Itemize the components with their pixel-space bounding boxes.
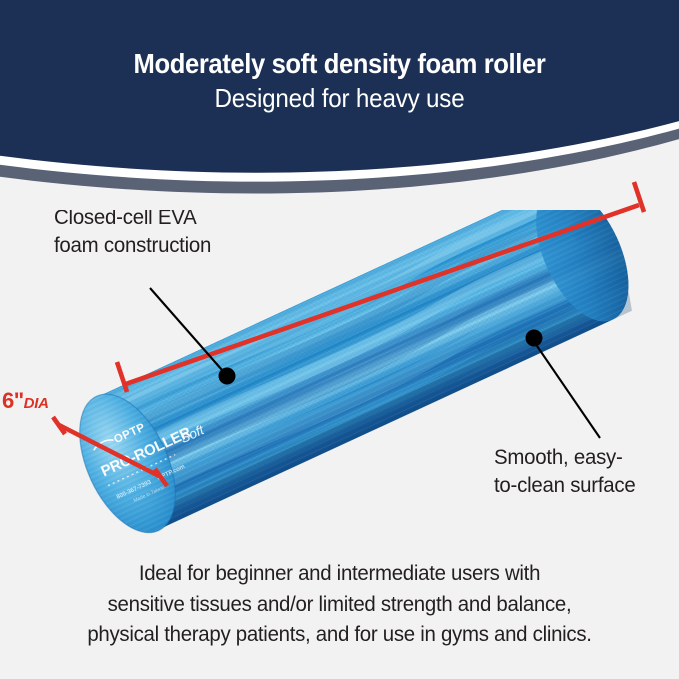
- description-line-2: sensitive tissues and/or limited strengt…: [17, 589, 662, 620]
- dimension-diameter: [53, 417, 167, 486]
- dimension-diameter-tick-right: [155, 469, 167, 486]
- dimension-diameter-line: [59, 425, 161, 477]
- leader-dot-left: [219, 368, 236, 385]
- dimension-length: [117, 182, 644, 392]
- dimension-length-tick-left: [117, 362, 127, 392]
- leader-line-right: [537, 346, 600, 438]
- description-line-1: Ideal for beginner and intermediate user…: [17, 558, 662, 589]
- description-line-3: physical therapy patients, and for use i…: [17, 619, 662, 650]
- dimension-length-line: [123, 205, 639, 385]
- leader-smooth-surface: [526, 330, 601, 439]
- leader-dot-right: [526, 330, 543, 347]
- leader-line-left: [150, 288, 222, 370]
- product-description: Ideal for beginner and intermediate user…: [0, 558, 679, 650]
- product-infographic: Moderately soft density foam roller Desi…: [0, 0, 679, 679]
